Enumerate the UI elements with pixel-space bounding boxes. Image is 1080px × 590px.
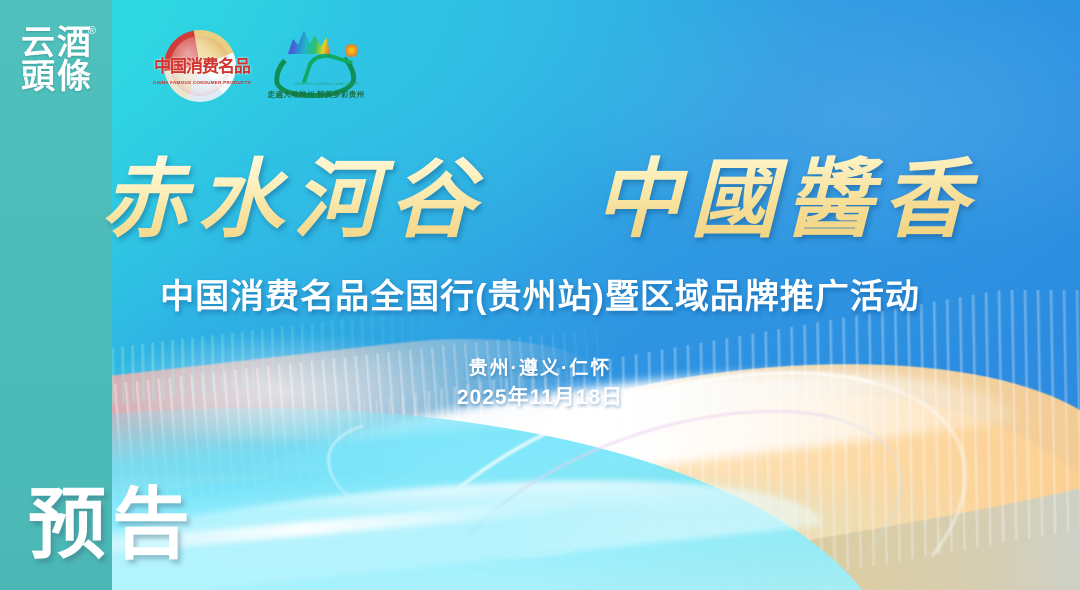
headline-part-2: 中國醬香 (595, 152, 979, 248)
event-location: 贵州·遵义·仁怀 (0, 355, 1080, 383)
headline-calligraphy: 赤水河谷 中國醬香 (0, 152, 1080, 248)
logo-sun-icon (345, 44, 358, 57)
headline-part-1: 赤水河谷 (102, 152, 486, 248)
event-subtitle: 中国消费名品全国行(贵州站)暨区域品牌推广活动 (0, 275, 1080, 319)
brand-logo-yunjiutoutiao: 云酒 頭條 ® (14, 18, 100, 104)
brand-line-2: 頭條 (21, 61, 93, 95)
logo-cn-text: 中国消费名品 (152, 58, 252, 76)
sky-highlight-glow (497, 0, 1080, 295)
logo-slogan-text: 走遍大地神州 醉美多彩贵州 (262, 90, 370, 100)
logo-guizhou-tourism: COLORFUL GUIZHOU CHINA TRAVEL 走遍大地神州 醉美多… (262, 28, 370, 106)
promo-poster: 云酒 頭條 ® 中国消费名品 CHINA FAMOUS CONSUMER PRO… (0, 0, 1080, 590)
preview-badge: 预告 (28, 482, 196, 568)
event-date: 2025年11月18日 (0, 383, 1080, 413)
logo-china-famous-consumer-products: 中国消费名品 CHINA FAMOUS CONSUMER PRODUCTS (150, 28, 254, 106)
registered-trademark-icon: ® (88, 26, 96, 37)
event-meta: 贵州·遵义·仁怀 2025年11月18日 (0, 355, 1080, 413)
logo-en-text: COLORFUL GUIZHOU CHINA TRAVEL (284, 82, 370, 87)
partner-logo-row: 中国消费名品 CHINA FAMOUS CONSUMER PRODUCTS CO… (150, 28, 370, 106)
logo-en-text: CHINA FAMOUS CONSUMER PRODUCTS (150, 80, 254, 86)
brand-line-1: 云酒 (21, 27, 93, 61)
